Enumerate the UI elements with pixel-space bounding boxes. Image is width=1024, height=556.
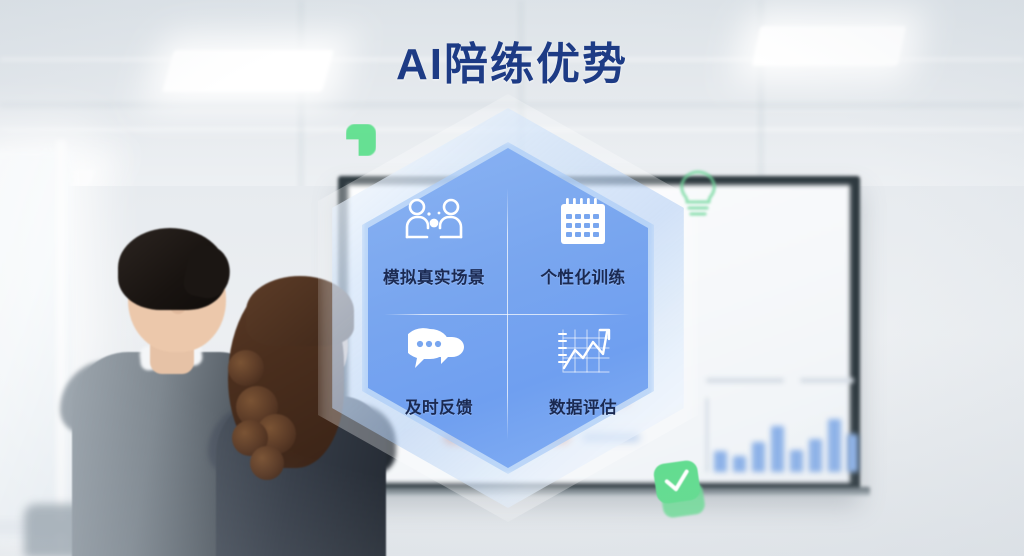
feature-quadrant-personalized[interactable]: 个性化训练 [508,188,658,288]
quadrant-divider-horizontal [384,314,630,315]
page-title: AI陪练优势 [0,28,1024,92]
two-people-conversation-icon [359,188,509,254]
background-chart-axis [706,398,708,472]
feature-label-feedback: 及时反馈 [364,394,514,418]
slide-canvas: 模拟真实场景 [0,0,1024,556]
feature-quadrant-assessment[interactable]: 数据评估 [508,318,658,418]
hexagon-feature-card: 模拟真实场景 [332,108,684,508]
calendar-icon [508,188,658,254]
feature-label-simulate: 模拟真实场景 [359,264,509,288]
window-frame [56,140,66,550]
feature-label-assessment: 数据评估 [508,394,658,418]
green-lightbulb-outline-icon [672,168,724,222]
green-check-badge-icon [652,459,701,505]
chat-bubbles-icon [364,318,514,384]
background-bar-chart [712,398,860,472]
feature-quadrant-simulate[interactable]: 模拟真实场景 [359,188,509,288]
feature-quadrant-feedback[interactable]: 及时反馈 [364,318,514,418]
feature-label-personalized: 个性化训练 [508,264,658,288]
line-chart-growth-icon [508,318,658,384]
